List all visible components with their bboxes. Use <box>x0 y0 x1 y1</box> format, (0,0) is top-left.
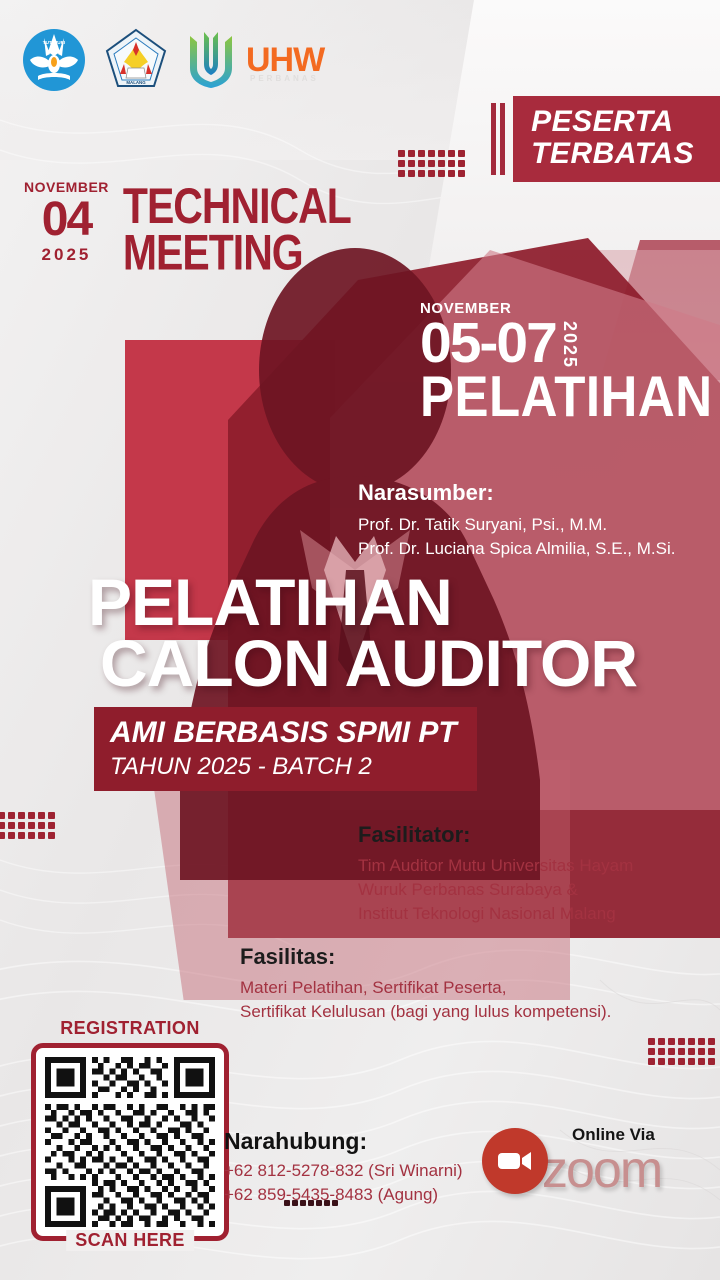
pelatihan-date-row: 05-07 2025 <box>420 317 713 369</box>
zoom-online-via-label: Online Via <box>572 1125 655 1145</box>
fasilitas-body: Materi Pelatihan, Sertifikat Peserta, Se… <box>240 976 611 1024</box>
narasumber-heading: Narasumber: <box>358 480 675 506</box>
badge-line-1: PESERTA <box>531 106 694 138</box>
scan-here-label: SCAN HERE <box>66 1230 194 1251</box>
narahubung-contacts: +62 812-5278-832 (Sri Winarni) +62 859-5… <box>224 1159 463 1207</box>
qr-code-image <box>45 1057 215 1227</box>
main-title-line-2: CALON AUDITOR <box>100 633 637 694</box>
pelatihan-year-label: 2025 <box>559 321 580 369</box>
badge-line-2: TERBATAS <box>531 138 694 170</box>
decor-dot-grid-left <box>0 812 55 839</box>
technical-meeting-block: NOVEMBER 04 2025 TECHNICAL MEETING <box>24 180 351 263</box>
band-line-1: AMI BERBASIS SPMI PT <box>110 717 457 749</box>
tut-wuri-handayani-logo: TUT WURI <box>20 26 88 94</box>
tm-year-label: 2025 <box>24 246 109 263</box>
zoom-word-label: zoom <box>542 1147 661 1194</box>
badge-bar <box>500 103 505 175</box>
narasumber-list: Prof. Dr. Tatik Suryani, Psi., M.M. Prof… <box>358 513 675 561</box>
main-title-band: AMI BERBASIS SPMI PT TAHUN 2025 - BATCH … <box>94 707 477 792</box>
zoom-wordmark: Online Via zoom <box>542 1147 661 1194</box>
badge-bar <box>491 103 496 175</box>
svg-text:MALANG: MALANG <box>126 80 146 85</box>
fasilitas-block: Fasilitas: Materi Pelatihan, Sertifikat … <box>240 944 611 1024</box>
badge-box: PESERTA TERBATAS <box>513 96 720 182</box>
uhw-wordmark: UHW PERBANAS <box>246 43 324 77</box>
pelatihan-word-label: PELATIHAN <box>420 371 713 422</box>
uhw-logo: UHW PERBANAS <box>184 30 324 90</box>
zoom-block: Online Via zoom <box>482 1128 661 1194</box>
registration-block: REGISTRATION <box>30 1018 230 1241</box>
badge-accent-bars <box>491 96 513 182</box>
narahubung-heading: Narahubung: <box>224 1128 463 1155</box>
fasilitator-block: Fasilitator: Tim Auditor Mutu Universita… <box>358 822 633 926</box>
fasilitator-body: Tim Auditor Mutu Universitas Hayam Wuruk… <box>358 854 633 926</box>
decor-dot-grid-top <box>398 150 465 177</box>
pelatihan-days-label: 05-07 <box>420 317 556 369</box>
registration-title: REGISTRATION <box>30 1018 230 1039</box>
svg-text:TUT WURI: TUT WURI <box>43 40 65 45</box>
registration-qr-code[interactable]: SCAN HERE <box>31 1043 229 1241</box>
itn-malang-logo: MALANG <box>102 26 170 94</box>
narahubung-block: Narahubung: +62 812-5278-832 (Sri Winarn… <box>224 1128 463 1207</box>
main-title-block: PELATIHAN CALON AUDITOR AMI BERBASIS SPM… <box>88 572 637 791</box>
fasilitas-heading: Fasilitas: <box>240 944 611 970</box>
narasumber-block: Narasumber: Prof. Dr. Tatik Suryani, Psi… <box>358 480 675 561</box>
technical-meeting-title: TECHNICAL MEETING <box>123 184 351 276</box>
band-line-2: TAHUN 2025 - BATCH 2 <box>110 754 457 779</box>
header-logos: TUT WURI MALANG <box>20 26 324 94</box>
main-title-line-1: PELATIHAN <box>88 572 637 633</box>
uhw-sub-label: PERBANAS <box>250 75 319 83</box>
tm-day-label: 04 <box>24 196 109 244</box>
tm-title-line-2: MEETING <box>123 230 351 276</box>
fasilitator-heading: Fasilitator: <box>358 822 633 848</box>
video-camera-icon <box>482 1128 548 1194</box>
uhw-mark-logo <box>184 30 238 90</box>
pelatihan-date-block: NOVEMBER 05-07 2025 PELATIHAN <box>420 300 713 417</box>
limited-seats-badge: PESERTA TERBATAS <box>491 96 720 182</box>
tm-month-label: NOVEMBER <box>24 180 109 194</box>
tm-title-line-1: TECHNICAL <box>123 184 351 230</box>
poster-canvas: TUT WURI MALANG <box>0 0 720 1280</box>
technical-meeting-date: NOVEMBER 04 2025 <box>24 180 109 263</box>
decor-dot-grid-right <box>648 1038 715 1065</box>
